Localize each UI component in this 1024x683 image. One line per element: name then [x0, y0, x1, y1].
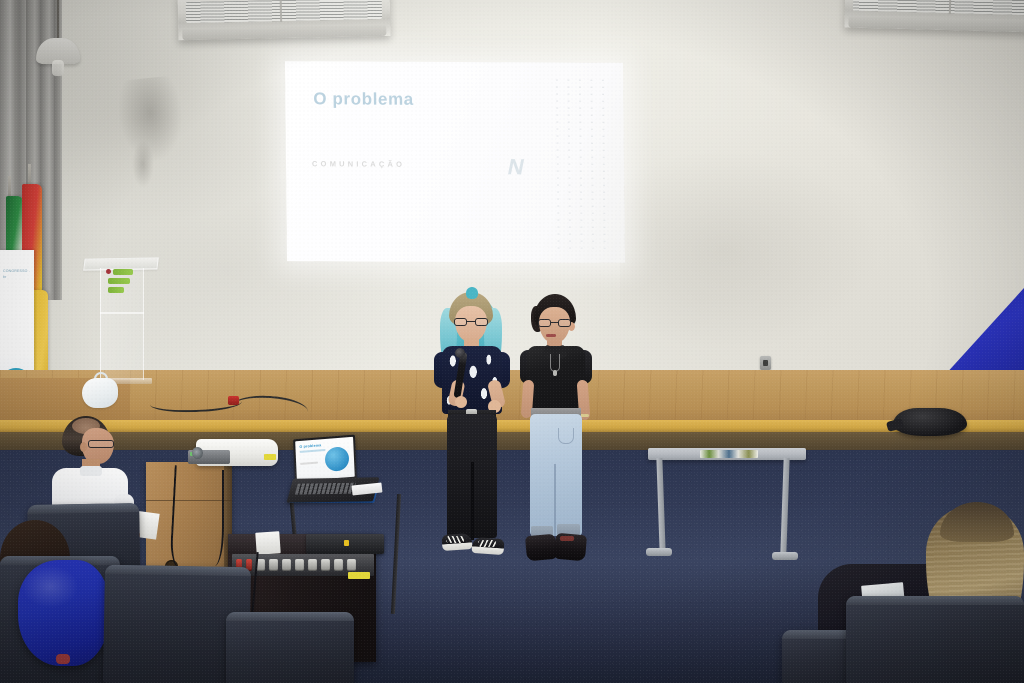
- projector-lens-icon: [192, 447, 203, 459]
- air-conditioner-icon-right: [844, 0, 1024, 33]
- ac-vents: [853, 0, 1024, 15]
- ac-vents: [186, 0, 381, 23]
- presenter-right-boot-left: [525, 534, 557, 562]
- presenter-right-jeans-pocket: [558, 428, 574, 444]
- amplifier-knob-7[interactable]: [334, 559, 343, 571]
- amplifier-knob-2[interactable]: [269, 559, 278, 571]
- glasses-lens-left: [538, 319, 551, 327]
- blue-jacket-on-seat: [18, 560, 110, 666]
- audience-man-glasses-icon: [88, 440, 114, 448]
- slide-subtitle: COMUNICAÇÃO: [312, 159, 405, 168]
- presenter-left-glasses-icon: [454, 318, 488, 326]
- receiver-power-led: [344, 540, 349, 546]
- lamp-cord: [57, 0, 59, 42]
- glasses-lens-left: [454, 318, 467, 326]
- laptop-slide-bar: [300, 449, 326, 453]
- logo-dot: [106, 269, 111, 274]
- audience-man-ear: [80, 442, 87, 452]
- seat-rim: [27, 503, 139, 514]
- amplifier-knob-3[interactable]: [282, 559, 291, 571]
- laptop-slide-title: O problema: [299, 443, 321, 449]
- auditorium-scene: CONGRESSO .br O problema COMUNICAÇÃO N: [0, 0, 1024, 683]
- amplifier-knob-6[interactable]: [321, 559, 330, 571]
- projection-screen: O problema COMUNICAÇÃO N: [285, 61, 625, 263]
- cable-plug: [228, 396, 239, 405]
- slide-dot-grid: [551, 77, 611, 249]
- presenter-right-lips: [546, 334, 556, 337]
- presenter-left: [428, 292, 514, 578]
- backpack: [893, 408, 967, 436]
- floor-cable-b: [200, 470, 224, 566]
- glasses-bridge: [467, 321, 475, 322]
- seat-rim: [226, 612, 354, 621]
- red-item-on-seat: [56, 654, 70, 664]
- air-conditioner-icon-left: [178, 0, 391, 40]
- auditorium-seat[interactable]: [846, 596, 1024, 683]
- amplifier-knob-5[interactable]: [308, 559, 317, 571]
- audience-woman-hair-top: [940, 502, 1014, 542]
- seat-rim: [846, 596, 1024, 605]
- booklet-on-table: [700, 450, 758, 458]
- presenter-right-pendant: [553, 370, 557, 376]
- seat-rim: [105, 565, 251, 577]
- wall-socket-icon: [760, 356, 771, 370]
- glasses-lens-right: [558, 319, 571, 327]
- auditorium-seat[interactable]: [226, 612, 354, 683]
- table-foot-right: [772, 552, 798, 560]
- slide-logo-mark: N: [505, 154, 526, 180]
- presenter-right-glasses-icon: [538, 319, 571, 327]
- slide-title: O problema: [313, 89, 414, 110]
- laptop-slide-bar-2: [300, 462, 318, 465]
- paper-on-amplifier: [255, 531, 280, 555]
- laptop-keys[interactable]: [295, 483, 356, 495]
- presenter-right-jeans-seam: [554, 464, 556, 536]
- laptop-display: O problema: [295, 437, 355, 482]
- presenter-left-leg-split: [471, 462, 474, 540]
- presenter-right-boot-lace: [560, 536, 574, 541]
- banner-text: CONGRESSO .br: [3, 268, 31, 280]
- table-foot-left: [646, 548, 672, 556]
- wall-shadow-lower: [132, 140, 154, 188]
- microphone-head-icon: [455, 348, 465, 358]
- amplifier-knob-4[interactable]: [295, 559, 304, 571]
- audience-man-collar: [80, 466, 102, 476]
- amplifier-knob-8[interactable]: [347, 559, 356, 571]
- laptop-slide-circle: [324, 446, 349, 472]
- presenter-right: [514, 294, 596, 578]
- projector-asset-label: [264, 454, 276, 460]
- plastic-bag: [82, 378, 118, 408]
- presenter-left-laces-right: [478, 540, 496, 547]
- lectern-shelf: [100, 312, 144, 314]
- presenter-left-laces-left: [446, 536, 464, 543]
- presenter-right-jeans: [530, 414, 582, 536]
- glasses-lens-right: [475, 318, 488, 326]
- presenter-left-hair-tuft: [466, 287, 478, 299]
- presenter-left-hand-left: [455, 396, 467, 408]
- lectern-logo-icon: [106, 269, 136, 297]
- lamp-bulb: [52, 60, 64, 76]
- wall-smudge: [620, 150, 880, 350]
- amplifier-asset-label: [348, 572, 370, 579]
